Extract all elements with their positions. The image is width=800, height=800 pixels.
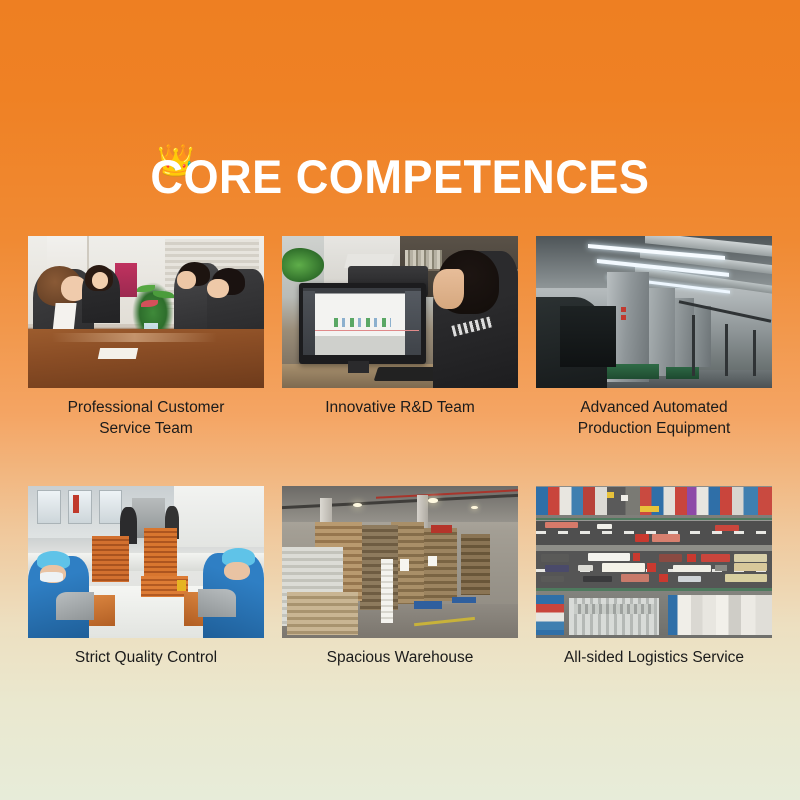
- caption-line-1: Spacious Warehouse: [282, 648, 518, 669]
- competence-card-6[interactable]: All-sided Logistics Service: [536, 486, 772, 669]
- caption-line-1: Innovative R&D Team: [282, 398, 518, 419]
- truck-row-4-a: [545, 565, 569, 573]
- meeting-room-photo[interactable]: [28, 236, 264, 388]
- foreground-pallet: [287, 592, 358, 635]
- competence-card-4[interactable]: Strict Quality Control: [28, 486, 264, 669]
- pallet-label-1: [400, 559, 409, 571]
- warehouse-photo[interactable]: [282, 486, 518, 638]
- truck-row-4-d: [647, 563, 656, 571]
- yard-vehicle-top-2: [621, 495, 628, 501]
- lane-markings-upper: [536, 531, 772, 533]
- truck-row-3-a: [541, 554, 569, 562]
- quality-control-photo[interactable]: [28, 486, 264, 638]
- safety-rail-post-2: [725, 324, 728, 376]
- workshop-window-1: [37, 490, 61, 523]
- design-artboard-icons: [334, 318, 391, 327]
- blue-pallet-2: [452, 597, 476, 603]
- table-glare: [52, 333, 217, 342]
- truck-upper-2: [597, 524, 611, 529]
- truck-row-3-g: [734, 554, 767, 562]
- pallet-label-2: [428, 556, 436, 567]
- designer-workstation-photo[interactable]: [282, 236, 518, 388]
- truck-row-5-f: [725, 574, 767, 582]
- safety-rail-post-3: [753, 330, 756, 376]
- truck-row-4-f: [715, 565, 727, 571]
- truck-row-3-b: [588, 553, 630, 561]
- roadside-strip-bottom: [536, 588, 772, 591]
- competence-caption-2: Innovative R&D Team: [282, 398, 518, 419]
- ceiling-lamp-2: [428, 498, 437, 503]
- monitor-stand: [348, 361, 369, 373]
- truck-upper-3: [715, 525, 739, 531]
- truck-row-5-a: [541, 576, 565, 583]
- pallet-stack-5: [461, 534, 489, 595]
- caption-line-1: Professional Customer: [28, 398, 264, 419]
- truck-row-5-e: [678, 576, 702, 583]
- paper-document-shape: [98, 348, 138, 359]
- truck-row-4-g: [734, 563, 767, 571]
- competence-card-3[interactable]: Advanced Automated Production Equipment: [536, 236, 772, 440]
- competence-caption-6: All-sided Logistics Service: [536, 648, 772, 669]
- printing-press-photo[interactable]: [536, 236, 772, 388]
- truck-row-4-b: [578, 565, 592, 571]
- worker-right-face: [224, 562, 250, 580]
- truck-row-5-b: [583, 576, 611, 583]
- foreground-machine-detail: [560, 306, 617, 367]
- designer-face: [433, 269, 464, 309]
- caption-line-1: All-sided Logistics Service: [536, 648, 772, 669]
- white-box-column: [381, 559, 393, 623]
- safety-rail-post-1: [692, 315, 695, 376]
- container-block-bottom-left: [536, 595, 564, 635]
- screen-guide-line: [315, 330, 419, 331]
- person-d-face: [207, 279, 228, 299]
- competence-card-5[interactable]: Spacious Warehouse: [282, 486, 518, 669]
- truck-row-3-c: [633, 553, 640, 561]
- competence-card-1[interactable]: Professional Customer Service Team: [28, 236, 264, 440]
- workshop-window-2: [68, 490, 92, 523]
- truck-row-3-f: [701, 554, 729, 562]
- press-unit-4: [692, 306, 711, 367]
- logistics-aerial-photo[interactable]: [536, 486, 772, 638]
- competence-card-2[interactable]: Innovative R&D Team: [282, 236, 518, 440]
- truck-mid-1: [635, 534, 649, 542]
- caption-line-1: Advanced Automated: [536, 398, 772, 419]
- page-title: CORE COMPETENCES: [150, 152, 649, 201]
- competences-grid: Professional Customer Service Team: [28, 236, 772, 669]
- competence-caption-5: Spacious Warehouse: [282, 648, 518, 669]
- software-left-toolbar: [303, 291, 315, 355]
- yellow-tool-shape: [177, 580, 186, 591]
- office-plant-shape: [282, 248, 324, 281]
- warehouse-roof-detail: [574, 604, 654, 613]
- caption-line-2: Production Equipment: [536, 419, 772, 440]
- box-stack-1: [92, 536, 130, 582]
- blue-pallet-1: [414, 601, 442, 609]
- warehouse-sign: [431, 525, 452, 533]
- truck-upper-1: [545, 522, 578, 528]
- truck-row-5-d: [659, 574, 668, 582]
- truck-mid-2: [652, 534, 680, 542]
- competence-caption-4: Strict Quality Control: [28, 648, 264, 669]
- yard-vehicle-top-3: [640, 506, 659, 512]
- worker-left-mask: [40, 572, 64, 581]
- truck-row-3-e: [687, 554, 696, 562]
- workshop-white-wall: [174, 486, 264, 547]
- truck-row-4-c: [602, 563, 644, 571]
- worker-right-arm: [198, 589, 236, 616]
- competence-caption-1: Professional Customer Service Team: [28, 398, 264, 440]
- competence-caption-3: Advanced Automated Production Equipment: [536, 398, 772, 440]
- caption-line-1: Strict Quality Control: [28, 648, 264, 669]
- red-wall-marker: [73, 495, 79, 513]
- container-block-bottom-right: [668, 595, 772, 635]
- control-button-1: [621, 307, 626, 312]
- truck-row-3-d: [659, 554, 683, 562]
- page-header: 👑 CORE COMPETENCES: [0, 152, 800, 201]
- yard-vehicle-top-1: [607, 492, 614, 498]
- worker-left-arm: [56, 592, 94, 619]
- software-right-panel: [405, 291, 422, 355]
- workshop-window-3: [99, 490, 123, 523]
- control-button-2: [621, 315, 626, 320]
- roadside-strip-top: [536, 518, 772, 520]
- press-unit-2: [649, 288, 675, 376]
- person-c-face: [177, 271, 196, 289]
- truck-row-5-c: [621, 574, 649, 582]
- caption-line-2: Service Team: [28, 419, 264, 440]
- truck-row-4-e: [673, 565, 711, 573]
